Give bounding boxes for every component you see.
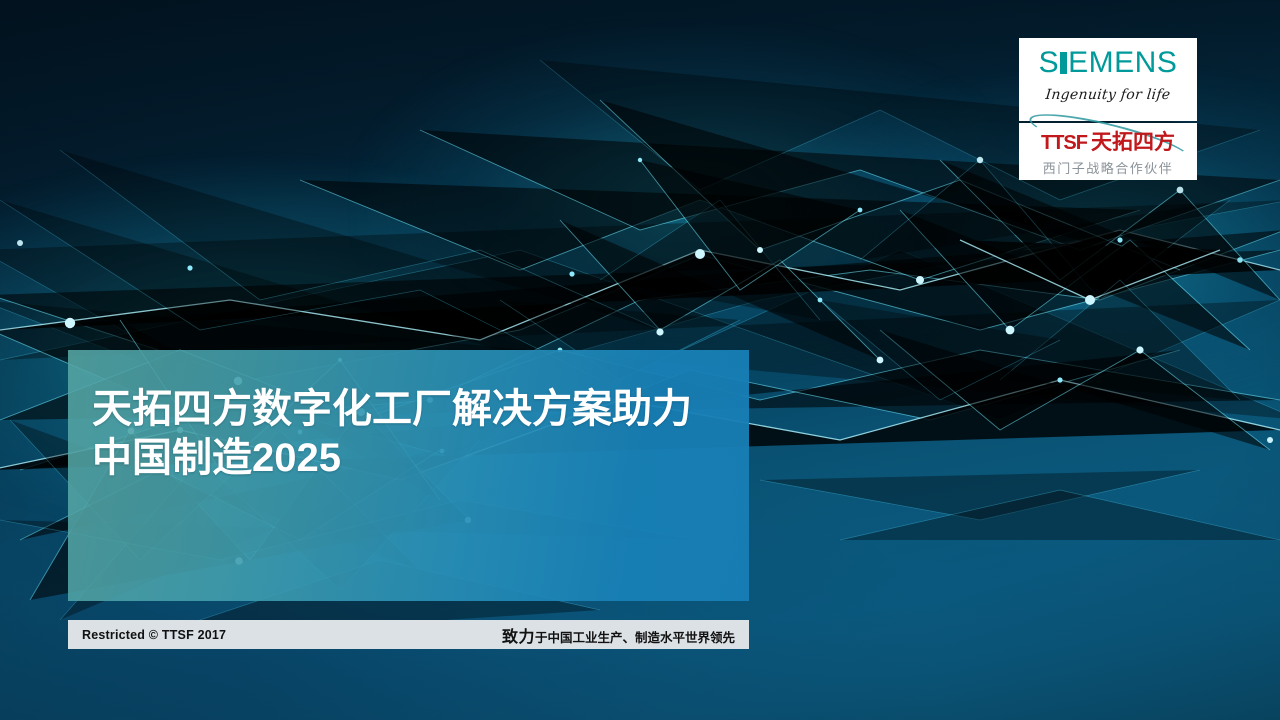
siemens-wordmark: SEMENS bbox=[1039, 48, 1178, 78]
footer-slogan-emphasis: 致力 bbox=[502, 623, 535, 647]
siemens-logo: SEMENS Ingenuity for life bbox=[1019, 38, 1197, 121]
ttsf-logo: TTSF 天拓四方 西门子战略合作伙伴 bbox=[1019, 123, 1197, 180]
presentation-slide: SEMENS Ingenuity for life TTSF 天拓四方 西门子战… bbox=[0, 0, 1280, 720]
footer-copyright: Restricted © TTSF 2017 bbox=[82, 628, 226, 642]
page-title: 天拓四方数字化工厂解决方案助力 中国制造2025 bbox=[92, 385, 732, 483]
siemens-wordmark-emens: EMENS bbox=[1068, 46, 1177, 79]
siemens-tagline: Ingenuity for life bbox=[1018, 87, 1198, 103]
siemens-i-bar bbox=[1060, 52, 1067, 74]
footer-bar: Restricted © TTSF 2017 致力于中国工业生产、制造水平世界领… bbox=[68, 620, 749, 649]
ttsf-latin-text: TTSF bbox=[1041, 132, 1087, 155]
title-line-2: 中国制造2025 bbox=[92, 436, 341, 480]
ttsf-cjk-text: 天拓四方 bbox=[1091, 126, 1175, 156]
title-panel: 天拓四方数字化工厂解决方案助力 中国制造2025 bbox=[68, 350, 749, 601]
footer-slogan-rest: 于中国工业生产、制造水平世界领先 bbox=[535, 627, 735, 646]
title-line-1: 天拓四方数字化工厂解决方案助力 bbox=[92, 387, 692, 431]
logo-stack: SEMENS Ingenuity for life TTSF 天拓四方 西门子战… bbox=[1019, 38, 1197, 180]
footer-slogan: 致力于中国工业生产、制造水平世界领先 bbox=[502, 623, 735, 647]
siemens-wordmark-s: S bbox=[1039, 46, 1060, 79]
ttsf-wordmark: TTSF 天拓四方 bbox=[1025, 126, 1191, 156]
